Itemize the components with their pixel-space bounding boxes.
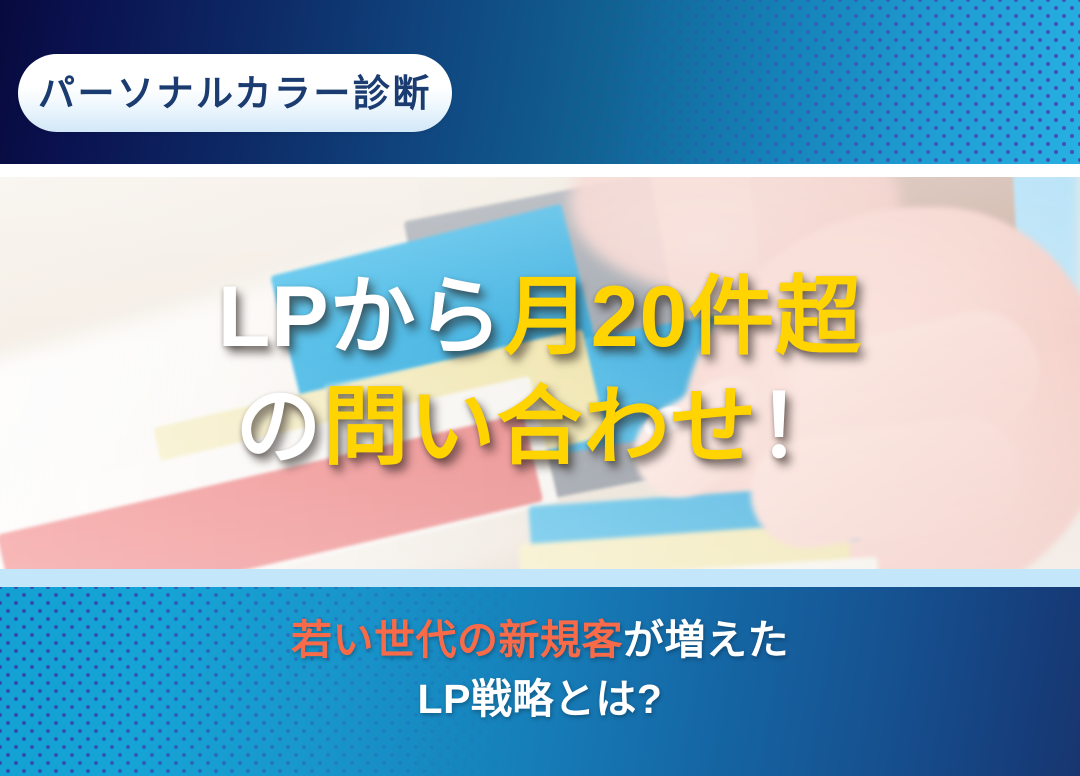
photo-overlay-veil: [0, 177, 1080, 569]
footer-line1-orange-text: 若い世代の新規客: [291, 617, 623, 663]
footer-band: 若い世代の新規客が増えた LP戦略とは?: [0, 587, 1080, 776]
footer-subheadline: 若い世代の新規客が増えた LP戦略とは?: [0, 611, 1080, 730]
promo-banner: パーソナルカラー診断: [0, 0, 1080, 776]
halftone-pattern-top-icon: [520, 0, 1080, 164]
footer-line-2: LP戦略とは?: [0, 670, 1080, 729]
divider-band: [0, 569, 1080, 587]
hero-photo: [0, 177, 1080, 569]
footer-line-1: 若い世代の新規客が増えた: [0, 611, 1080, 670]
header-band: パーソナルカラー診断: [0, 0, 1080, 164]
footer-line1-white-text: が増えた: [623, 617, 789, 663]
category-badge[interactable]: パーソナルカラー診断: [18, 54, 452, 132]
category-badge-label: パーソナルカラー診断: [38, 75, 432, 112]
hero-photo-image: [0, 177, 1080, 569]
